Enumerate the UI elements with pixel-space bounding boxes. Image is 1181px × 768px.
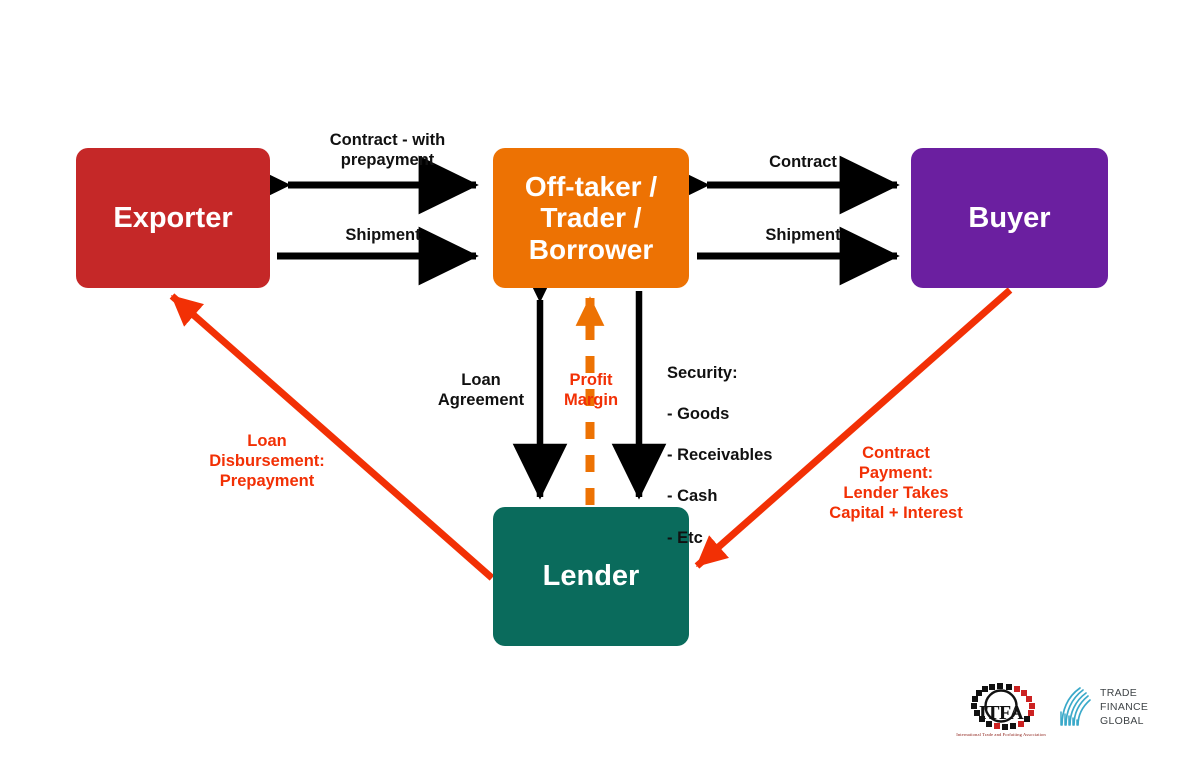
tfg-logo: TRADE FINANCE GLOBAL <box>1058 684 1146 736</box>
itfa-tagline: International Trade and Forfaiting Assoc… <box>951 732 1051 737</box>
diagram-canvas: Exporter Off-taker / Trader / Borrower B… <box>0 0 1181 768</box>
node-exporter-label: Exporter <box>76 202 270 234</box>
label-security-title: Security: <box>667 363 857 384</box>
label-shipment-exporter-offtaker: Shipment <box>312 225 454 245</box>
node-buyer[interactable]: Buyer <box>911 148 1108 288</box>
label-loan-disbursement-prepayment: Loan Disbursement: Prepayment <box>177 431 357 491</box>
tfg-swoosh-icon <box>1058 684 1098 728</box>
node-offtaker[interactable]: Off-taker / Trader / Borrower <box>493 148 689 288</box>
label-security-item-etc: - Etc <box>667 528 857 549</box>
node-lender[interactable]: Lender <box>493 507 689 646</box>
logo-strip: ITFA International Trade and Forfaiting … <box>955 682 1145 750</box>
node-offtaker-label: Off-taker / Trader / Borrower <box>493 171 689 265</box>
node-buyer-label: Buyer <box>911 202 1108 234</box>
tfg-line-trade: TRADE <box>1100 687 1148 701</box>
label-contract-offtaker-buyer: Contract <box>733 152 873 172</box>
label-loan-agreement: Loan Agreement <box>420 370 542 410</box>
tfg-line-global: GLOBAL <box>1100 715 1148 729</box>
label-profit-margin: Profit Margin <box>552 370 630 410</box>
tfg-line-finance: FINANCE <box>1100 701 1148 715</box>
label-contract-with-prepayment: Contract - with prepayment <box>300 130 475 170</box>
node-lender-label: Lender <box>493 560 689 592</box>
label-security-item-goods: - Goods <box>667 404 857 425</box>
itfa-wordmark: ITFA <box>955 702 1047 725</box>
node-exporter[interactable]: Exporter <box>76 148 270 288</box>
itfa-logo: ITFA International Trade and Forfaiting … <box>955 682 1047 744</box>
label-contract-payment: Contract Payment: Lender Takes Capital +… <box>806 443 986 524</box>
tfg-wordmark: TRADE FINANCE GLOBAL <box>1100 687 1148 729</box>
label-shipment-offtaker-buyer: Shipment <box>733 225 873 245</box>
